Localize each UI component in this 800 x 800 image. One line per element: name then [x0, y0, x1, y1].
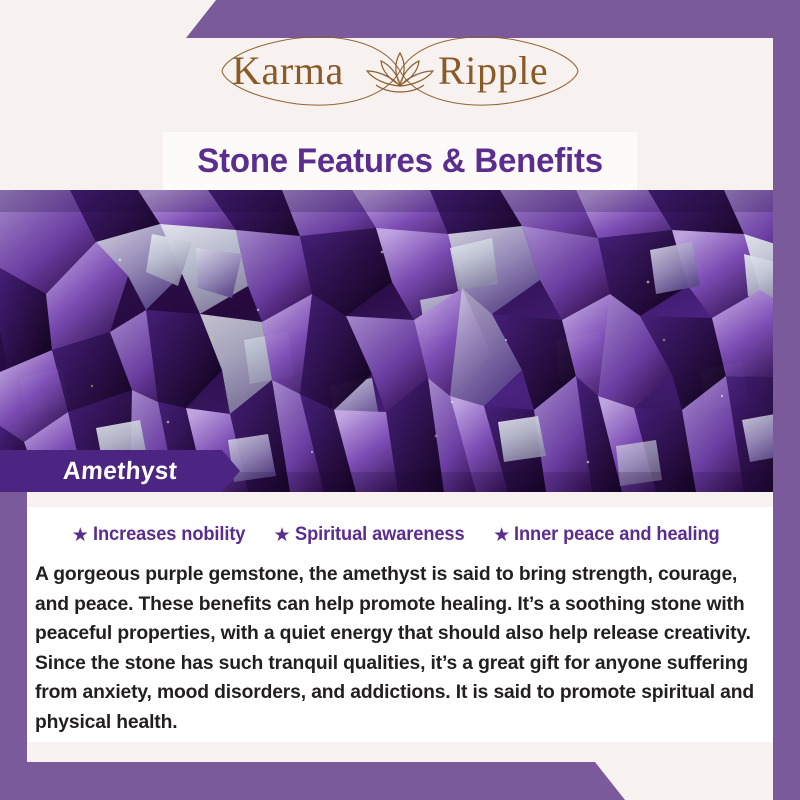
amethyst-photo [0, 190, 800, 492]
brand-name-left: Karma [232, 48, 344, 93]
feature-label-2: Spiritual awareness [295, 524, 465, 546]
stone-name-banner: Amethyst [0, 450, 240, 492]
feature-label-3: Inner peace and healing [514, 524, 720, 546]
infographic-page: Karma Ripple Stone Features & Benefits [0, 0, 800, 800]
star-icon: ★ [273, 526, 290, 545]
amethyst-photo-svg [0, 190, 800, 492]
feature-item-2: ★ Spiritual awareness [273, 524, 471, 546]
title-band: Stone Features & Benefits [163, 132, 637, 190]
feature-label-1: Increases nobility [93, 524, 245, 546]
frame-left-bar [0, 492, 27, 800]
feature-item-3: ★ Inner peace and healing [493, 524, 728, 546]
brand-logo-svg: Karma Ripple [190, 30, 610, 112]
frame-bottom-bar [0, 762, 800, 800]
features-row: ★ Increases nobility ★ Spiritual awarene… [27, 519, 773, 551]
frame-right-bar [773, 0, 800, 800]
lotus-icon [367, 53, 433, 92]
stone-name-label: Amethyst [62, 457, 178, 486]
body-top-strip [27, 492, 773, 507]
star-icon: ★ [72, 526, 89, 545]
description-text: A gorgeous purple gemstone, the amethyst… [35, 560, 764, 737]
star-icon: ★ [493, 526, 510, 545]
page-title: Stone Features & Benefits [197, 142, 603, 181]
feature-item-1: ★ Increases nobility [72, 524, 252, 546]
brand-name-right: Ripple [438, 48, 548, 93]
brand-logo: Karma Ripple [0, 30, 800, 112]
